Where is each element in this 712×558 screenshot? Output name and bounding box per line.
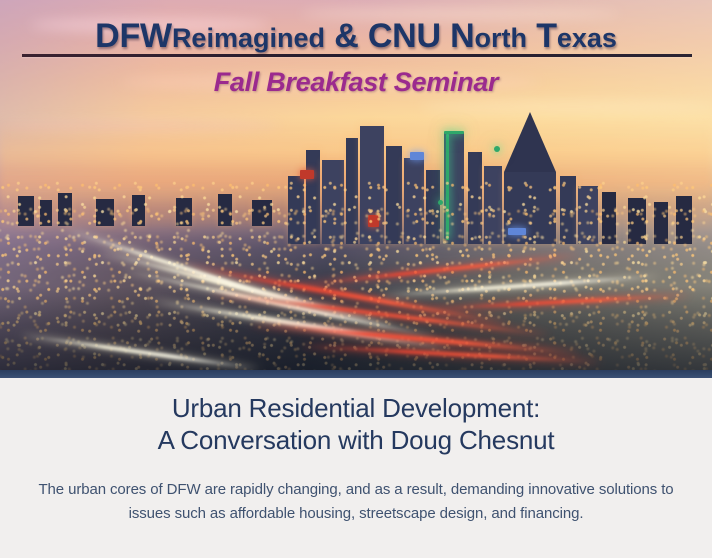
talk-title: Urban Residential Development: A Convers… [0, 378, 712, 456]
content-panel: Urban Residential Development: A Convers… [0, 378, 712, 558]
talk-description: The urban cores of DFW are rapidly chang… [0, 456, 712, 526]
title-segment-reimagined: Reimagined [172, 23, 325, 53]
title-segment-north-n: N [450, 17, 474, 55]
green-accent-light-top [444, 131, 464, 134]
red-sign-light-1 [300, 170, 314, 179]
page-title: DFWReimagined & CNU North Texas [0, 0, 712, 56]
blue-crown-light-1 [410, 152, 424, 160]
header-block: DFWReimagined & CNU North Texas Fall Bre… [0, 0, 712, 97]
seminar-flyer: DFWReimagined & CNU North Texas Fall Bre… [0, 0, 712, 558]
talk-title-line-1: Urban Residential Development: [172, 393, 540, 423]
title-segment-texas-exas: exas [557, 23, 617, 53]
green-beacon-light [494, 146, 500, 152]
title-segment-and-cnu: & CNU [325, 17, 450, 55]
fountain-place-pyramid-top [504, 112, 556, 172]
photo-footer-strip [0, 370, 712, 378]
title-segment-dfw: DFW [95, 17, 172, 55]
title-segment-north-orth: orth [475, 23, 527, 53]
title-underline-rule [22, 54, 692, 57]
title-segment-texas-t: T [527, 17, 557, 55]
page-subtitle: Fall Breakfast Seminar [0, 56, 712, 97]
talk-title-line-2: A Conversation with Doug Chesnut [0, 424, 712, 456]
